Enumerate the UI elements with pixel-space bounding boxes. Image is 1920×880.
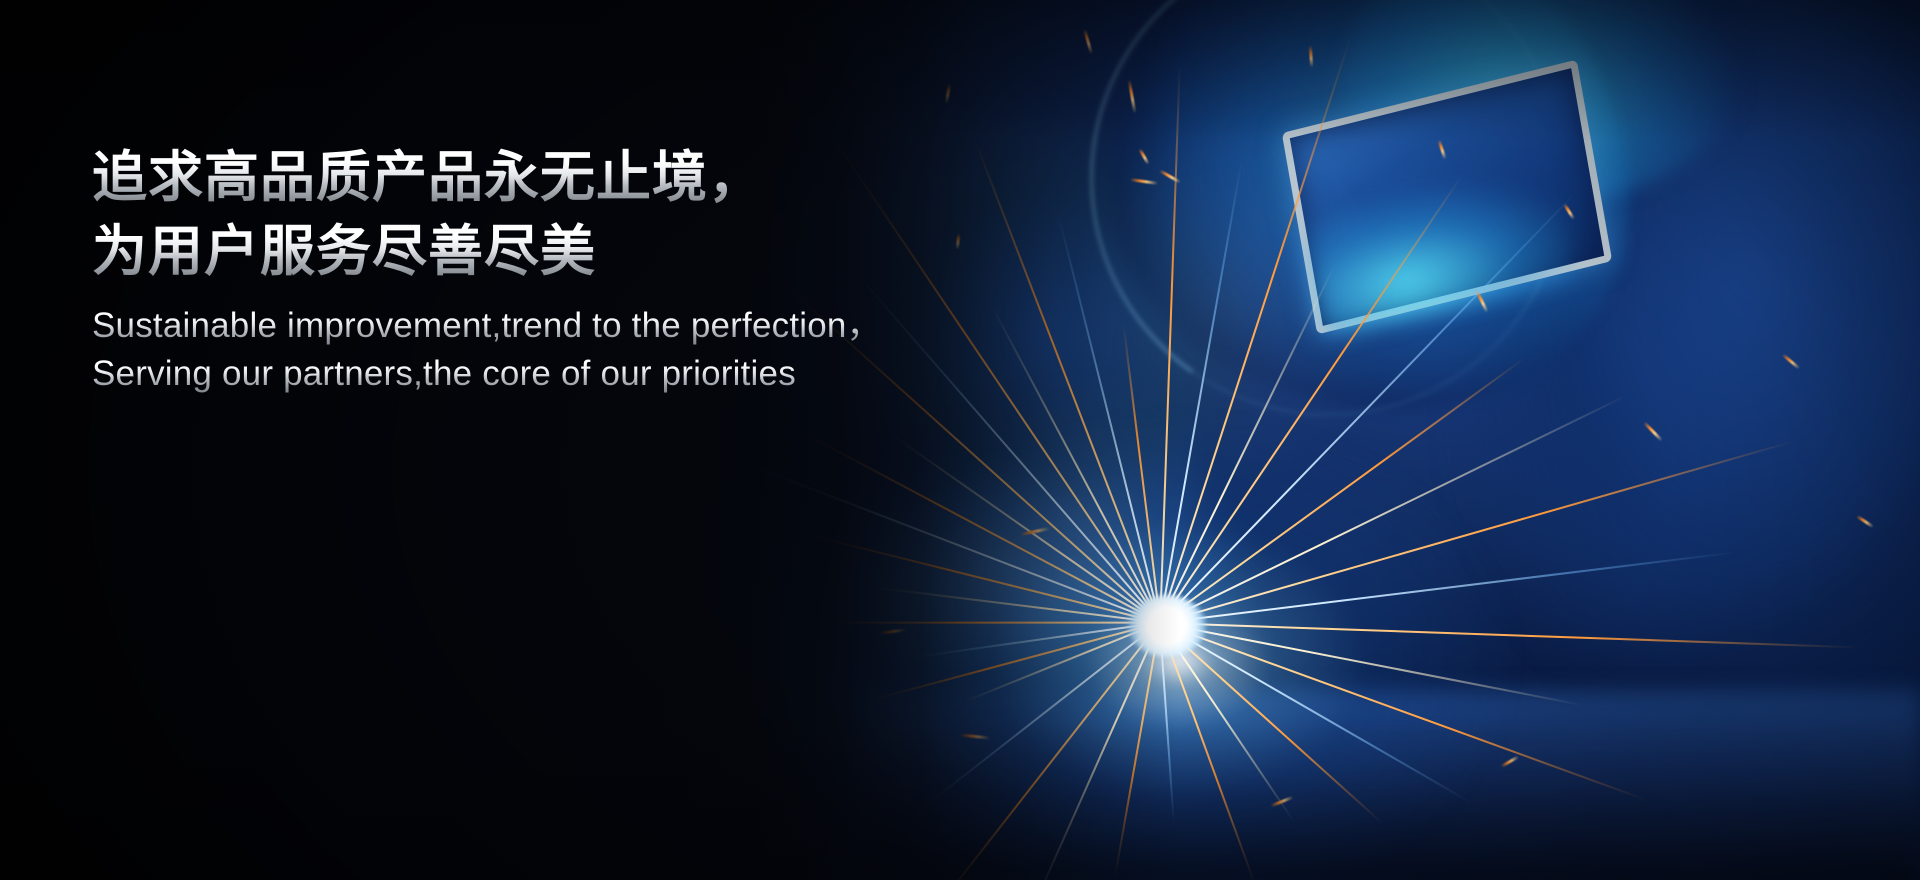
welding-photo	[0, 0, 1920, 880]
subhead-en-block: Sustainable improvement,trend to the per…	[92, 302, 992, 398]
banner-copy: 追求高品质产品永无止境， 为用户服务尽善尽美 Sustainable impro…	[92, 140, 992, 398]
subhead-en-line-2: Serving our partners,the core of our pri…	[92, 350, 992, 398]
headline-cn-line-1: 追求高品质产品永无止境，	[92, 140, 992, 214]
hero-banner: 追求高品质产品永无止境， 为用户服务尽善尽美 Sustainable impro…	[0, 0, 1920, 880]
photo-vignette	[0, 0, 1920, 880]
headline-cn-line-2: 为用户服务尽善尽美	[92, 214, 992, 288]
subhead-en-line-1: Sustainable improvement,trend to the per…	[92, 302, 992, 350]
